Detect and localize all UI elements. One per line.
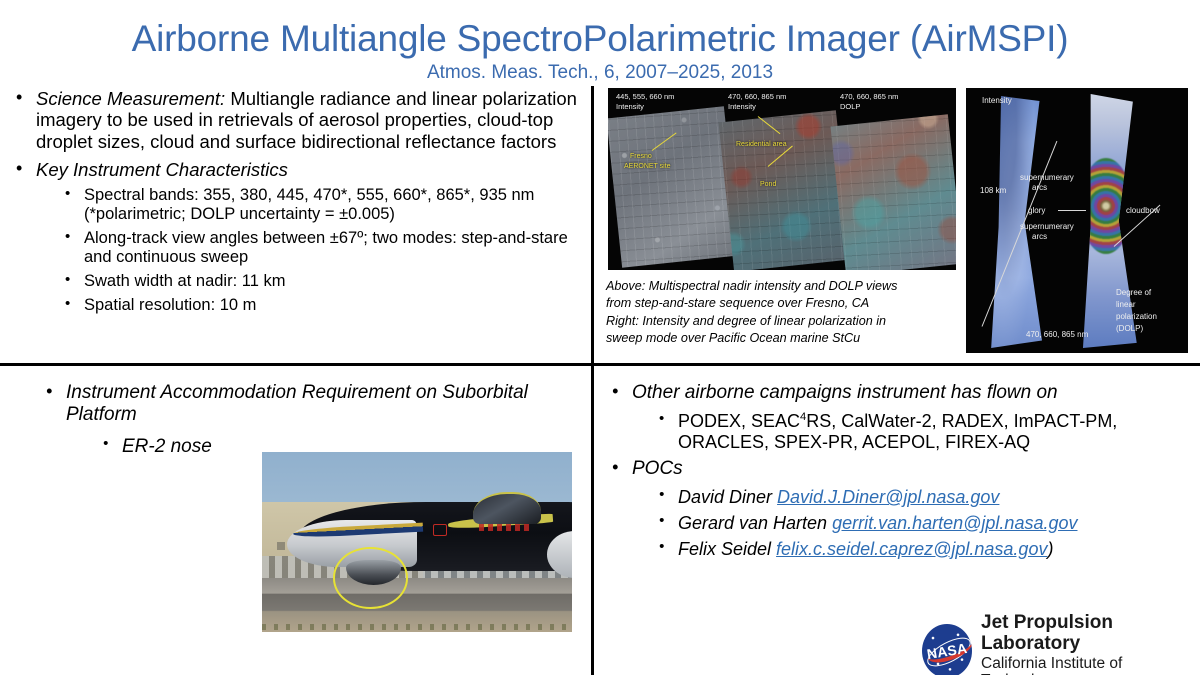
label-scale-108km: 108 km — [980, 186, 1006, 196]
poc-trail-3: ) — [1047, 539, 1053, 559]
poc-email-link-1[interactable]: David.J.Diner@jpl.nasa.gov — [777, 487, 999, 507]
nasa-jpl-logo: NASA Jet Propulsion Laboratory Californi… — [922, 612, 1200, 675]
bullet-other-campaigns: Other airborne campaigns instrument has … — [608, 382, 1188, 404]
bullet-key-instrument-characteristics: Key Instrument Characteristics Spectral … — [12, 159, 577, 314]
label-glory: glory — [1028, 206, 1045, 216]
er2-aircraft-photo — [262, 452, 572, 632]
label-dolp-line3: polarization — [1116, 312, 1157, 322]
sub-bullet-spectral-bands: Spectral bands: 355, 380, 445, 470*, 555… — [62, 186, 577, 224]
annotation-fresno: Fresno — [630, 152, 652, 161]
poc-name-2: Gerard van Harten — [678, 513, 832, 533]
accommodation-block: Instrument Accommodation Requirement on … — [42, 382, 582, 463]
label-supernumerary-2: supernumerary — [1020, 222, 1074, 232]
jpl-name: Jet Propulsion Laboratory — [981, 612, 1200, 655]
photo-red-stencil-text — [479, 524, 529, 531]
label-sweep-bands: 470, 660, 865 nm — [1026, 330, 1088, 340]
cloudbow-rings — [1080, 158, 1132, 254]
campaigns-and-pocs-block: Other airborne campaigns instrument has … — [608, 382, 1188, 565]
tile-label-bands-2: 470, 660, 865 nm — [728, 92, 786, 102]
sub-bullet-swath-width: Swath width at nadir: 11 km — [62, 272, 577, 291]
caption-line-1: Above: Multispectral nadir intensity and… — [606, 278, 958, 295]
label-dolp-line4: (DOLP) — [1116, 324, 1143, 334]
caption-line-2: from step-and-stare sequence over Fresno… — [606, 295, 958, 312]
label-arcs-2: arcs — [1032, 232, 1047, 242]
science-measurement-block: Science Measurement: Multiangle radiance… — [12, 88, 577, 322]
bullet-accommodation-requirement: Instrument Accommodation Requirement on … — [42, 382, 582, 426]
annotation-residential-area: Residential area — [736, 140, 787, 149]
poc-david-diner: David Diner David.J.Diner@jpl.nasa.gov — [656, 487, 1188, 508]
bullet-science-measurement: Science Measurement: Multiangle radiance… — [12, 88, 577, 152]
figure-caption: Above: Multispectral nadir intensity and… — [606, 278, 958, 348]
poc-name-1: David Diner — [678, 487, 777, 507]
tile-label-bands-3: 470, 660, 865 nm — [840, 92, 898, 102]
poc-name-3: Felix Seidel — [678, 539, 776, 559]
sub-bullet-view-angles: Along-track view angles between ±67º; tw… — [62, 229, 577, 267]
glory-leader-line — [1058, 210, 1086, 211]
poc-email-link-2[interactable]: gerrit.van.harten@jpl.nasa.gov — [832, 513, 1077, 533]
caltech-name: California Institute of Technology — [981, 655, 1200, 675]
sub-bullet-spatial-resolution: Spatial resolution: 10 m — [62, 296, 577, 315]
vertical-divider-bottom — [591, 366, 594, 675]
key-characteristics-label: Key Instrument Characteristics — [36, 159, 288, 180]
label-dolp-line1: Degree of — [1116, 288, 1151, 298]
tile-label-product-1: Intensity — [616, 102, 644, 112]
poc-gerard-van-harten: Gerard van Harten gerrit.van.harten@jpl.… — [656, 513, 1188, 534]
nasa-meatball-icon: NASA — [922, 624, 972, 675]
label-intensity: Intensity — [982, 96, 1012, 106]
photo-warning-triangle — [433, 524, 447, 536]
jpl-wordmark: Jet Propulsion Laboratory California Ins… — [981, 612, 1200, 675]
campaigns-pre: PODEX, SEAC — [678, 411, 800, 431]
label-supernumerary-1: supernumerary — [1020, 173, 1074, 183]
tile-label-product-2: Intensity — [728, 102, 756, 112]
caption-line-4: sweep mode over Pacific Ocean marine StC… — [606, 330, 958, 347]
sweep-mode-figure: Intensity 108 km supernumerary arcs glor… — [966, 88, 1188, 353]
horizontal-divider — [0, 363, 1200, 366]
caption-line-3: Right: Intensity and degree of linear po… — [606, 313, 958, 330]
science-measurement-lead: Science Measurement: — [36, 88, 225, 109]
sub-bullet-campaign-list: PODEX, SEAC4RS, CalWater-2, RADEX, ImPAC… — [656, 411, 1188, 452]
fresno-multispectral-figure: 445, 555, 660 nm Intensity 470, 660, 865… — [608, 88, 956, 270]
tile-label-product-3: DOLP — [840, 102, 860, 112]
annotation-pond: Pond — [760, 180, 776, 189]
poc-email-link-3[interactable]: felix.c.seidel.caprez@jpl.nasa.gov — [776, 539, 1047, 559]
poc-felix-seidel: Felix Seidel felix.c.seidel.caprez@jpl.n… — [656, 539, 1188, 560]
image-tile-dolp-470 — [830, 114, 956, 270]
page-subtitle: Atmos. Meas. Tech., 6, 2007–2025, 2013 — [0, 62, 1200, 84]
label-arcs-1: arcs — [1032, 183, 1047, 193]
annotation-aeronet-site: AERONET site — [624, 162, 671, 171]
slide-root: Airborne Multiangle SpectroPolarimetric … — [0, 0, 1200, 675]
tile-label-bands-1: 445, 555, 660 nm — [616, 92, 674, 102]
bullet-pocs: POCs — [608, 458, 1188, 480]
photo-tarmac — [262, 578, 572, 632]
label-dolp-line2: linear — [1116, 300, 1136, 310]
page-title: Airborne Multiangle SpectroPolarimetric … — [0, 18, 1200, 60]
nose-highlight-ellipse — [333, 547, 407, 608]
vertical-divider-top — [591, 86, 594, 363]
